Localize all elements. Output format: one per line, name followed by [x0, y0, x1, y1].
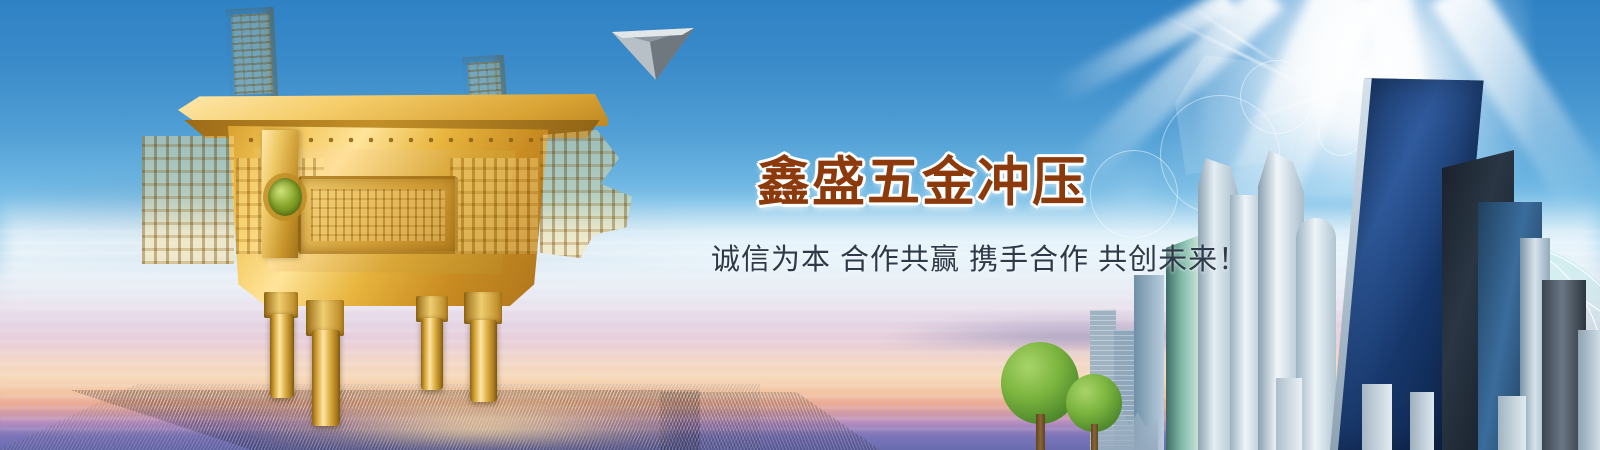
ding-leg [470, 320, 497, 402]
ding-wing-left [142, 136, 234, 264]
tree-trunk [1091, 424, 1098, 450]
building [1578, 330, 1600, 450]
ding-ear-pattern [231, 13, 273, 95]
ding-center-cartouche [298, 176, 458, 254]
ding-leg [312, 330, 340, 426]
tree-trunk [1036, 414, 1045, 450]
ding-leg [270, 314, 294, 398]
ding-cartouche-pattern [311, 189, 445, 241]
ding-ear-left [226, 7, 279, 101]
ding-wing-pattern [142, 136, 234, 264]
golden-ding-vessel [178, 8, 608, 428]
building-rounded [1296, 218, 1336, 450]
building-small [1362, 384, 1392, 450]
ding-leg [421, 318, 443, 390]
page-title: 鑫盛五金冲压 [757, 140, 1087, 216]
ding-taotie-scroll-right [450, 158, 538, 254]
building-small [1410, 392, 1434, 450]
tree [1062, 374, 1126, 450]
floating-pyramid-icon [612, 26, 694, 80]
hero-banner: 鑫盛五金冲压 诚信为本 合作共赢 携手合作 共创未来！ [0, 0, 1600, 450]
ding-jade-boss [268, 178, 302, 216]
tagline: 诚信为本 合作共赢 携手合作 共创未来！ [711, 236, 1248, 278]
building-small [1276, 378, 1302, 450]
building-small [1498, 396, 1526, 450]
